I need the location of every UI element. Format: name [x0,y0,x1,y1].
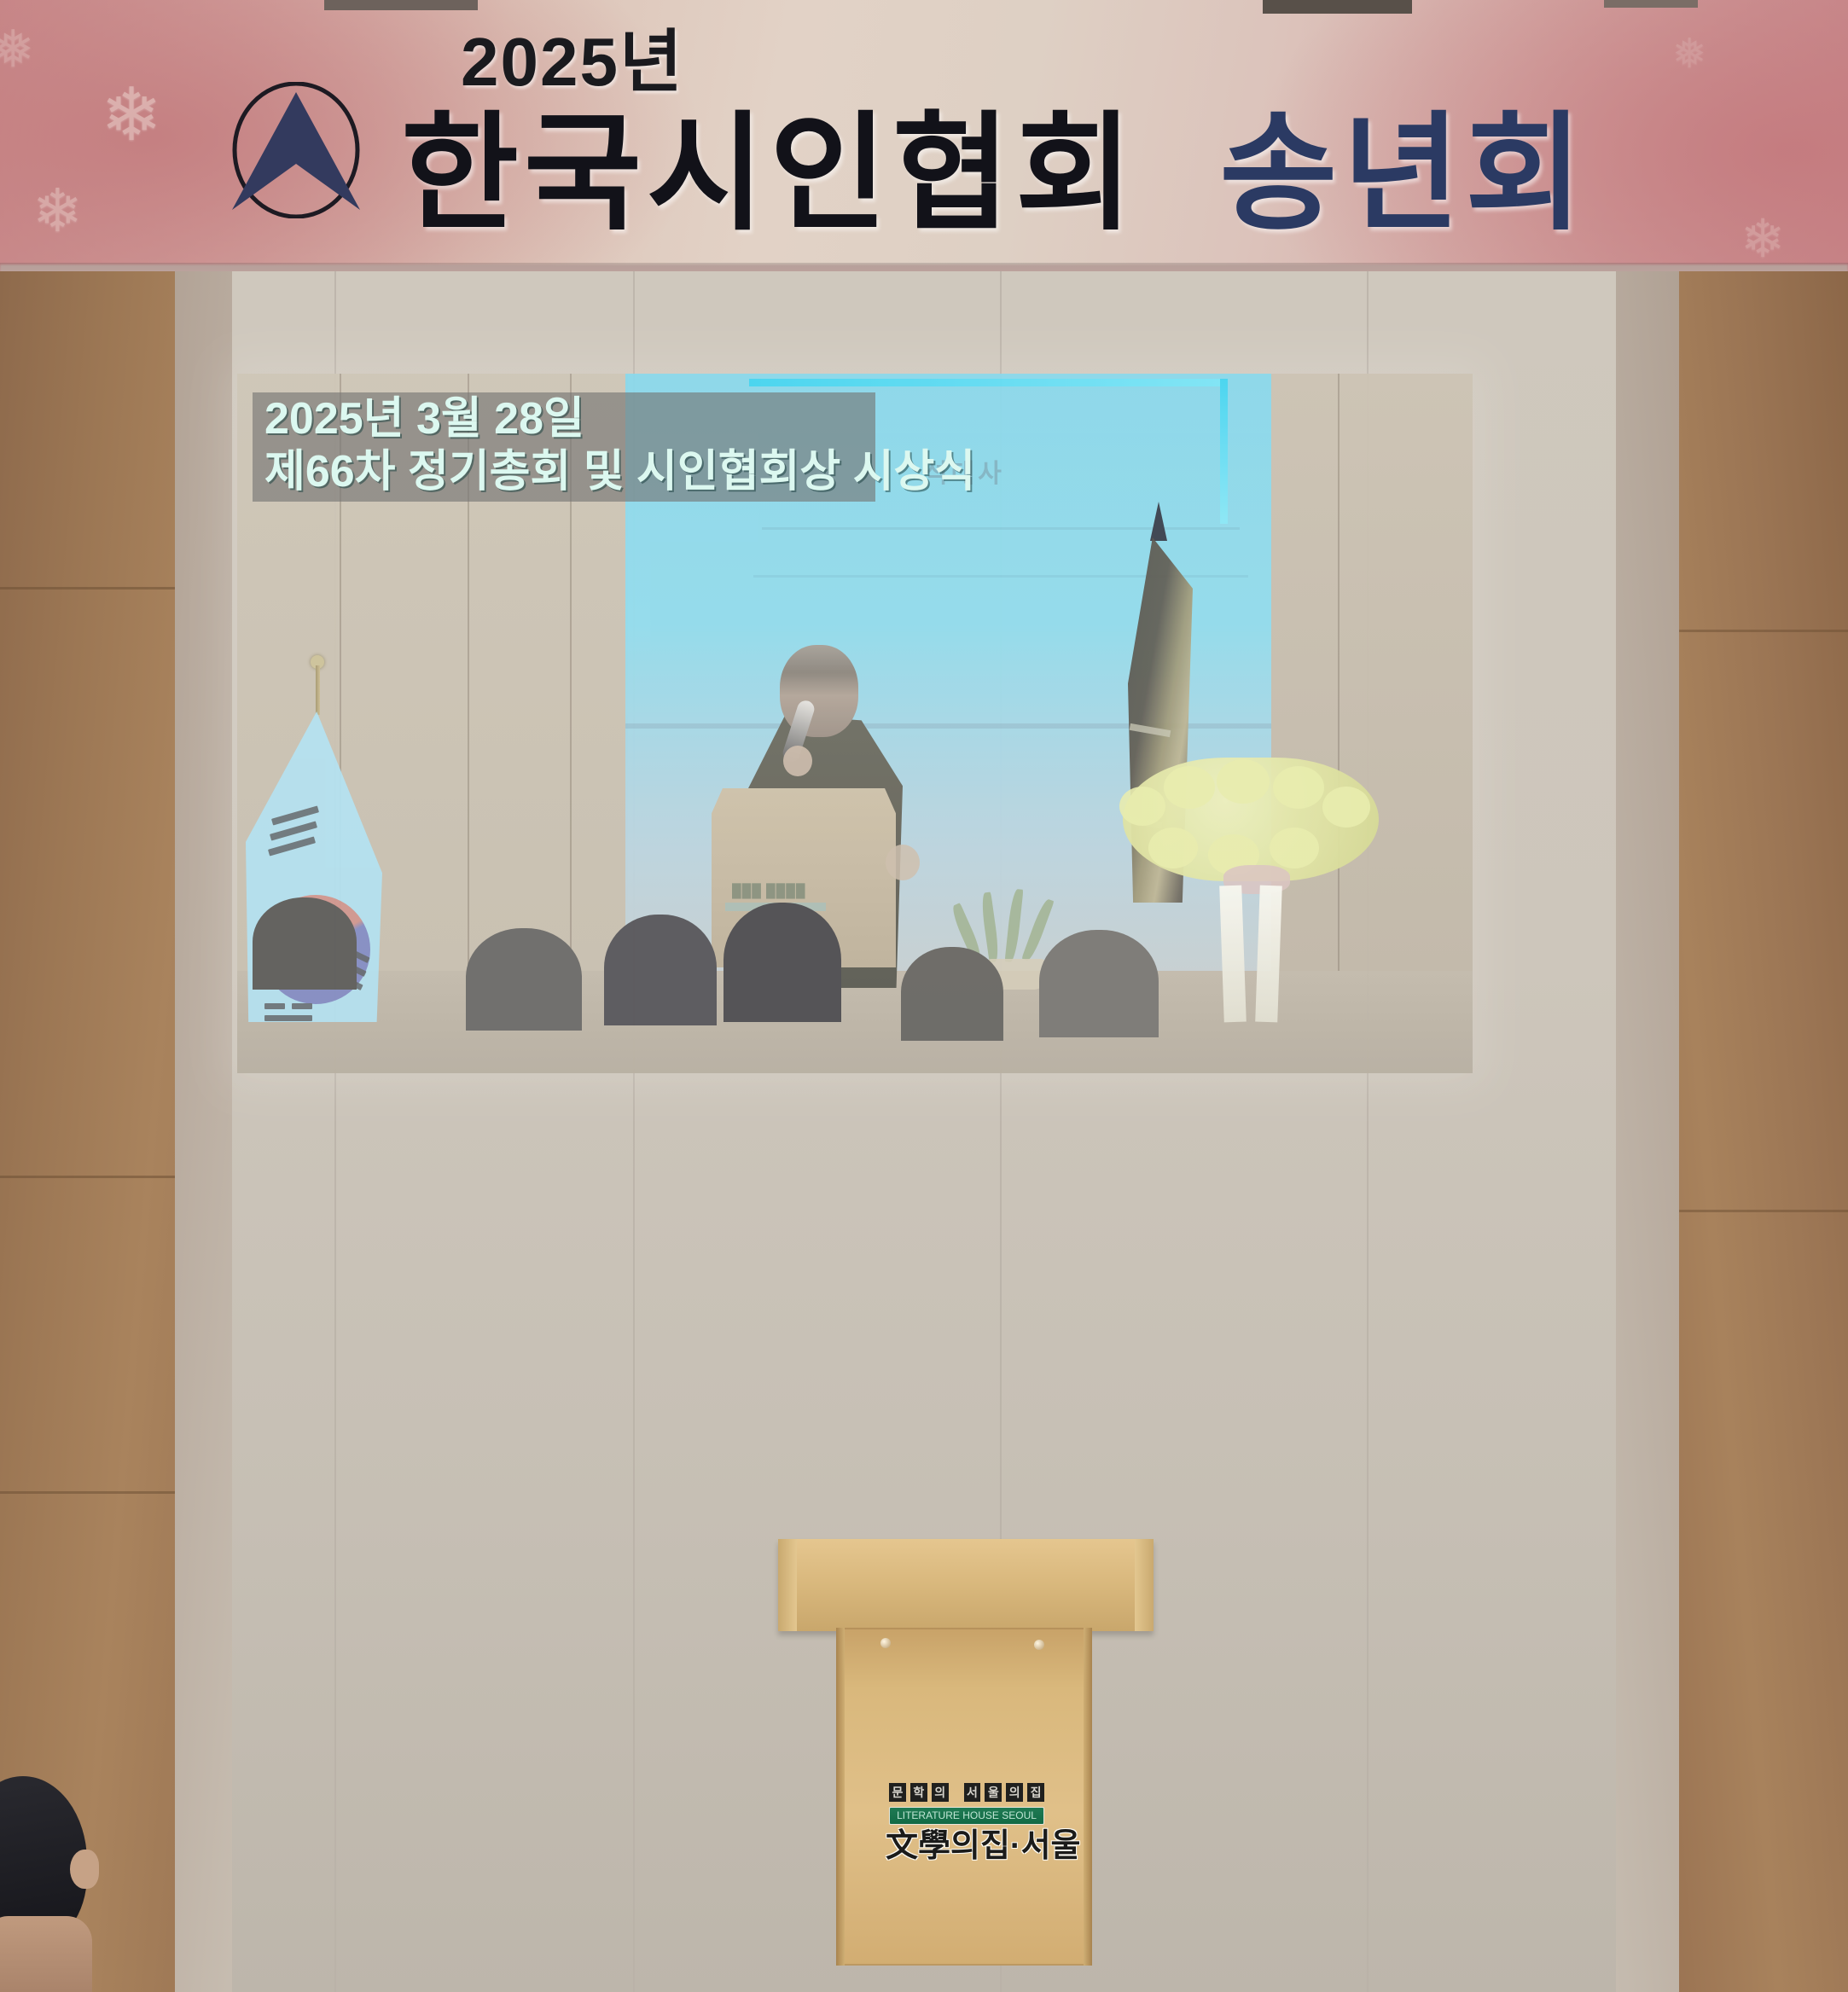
lectern-screw [880,1638,891,1648]
slide-speaker-hand-2 [886,845,920,880]
lectern-top [778,1539,1154,1631]
snowflake-icon: ❅ [1672,34,1706,75]
ceiling-shadow-nick [1604,0,1698,8]
slide-audience-head [466,928,582,1031]
right-wood-wall [1655,271,1848,1992]
banner-title-association: 한국시인협회 [401,102,1138,245]
slide-caption-line-2: 제66차 정기총회 및 시인협회상 시상식 [253,445,875,498]
plaque-small-glyph: 집 [1027,1783,1044,1802]
event-photo-scene: ❄ ❄ ❅ ❄ ❅ 2025년 한국시인협회 송년회 일시 : 2025년 11… [0,0,1848,1992]
plaque-small-glyph: 의 [932,1783,949,1802]
slide-audience-head [604,915,717,1025]
lectern-plaque: 문 학 의 서 울 의 집 LITERATURE HOUSE SEOUL 文學의… [889,1783,1044,1877]
room: 석대사 [0,271,1848,1992]
lectern: 문 학 의 서 울 의 집 LITERATURE HOUSE SEOUL 文學의… [778,1539,1154,1966]
banner-main-title: 한국시인협회 송년회 [401,70,1588,255]
caption-top-rule [749,379,1227,386]
plaque-small-glyph: 학 [910,1783,927,1802]
lectern-body-right-edge [1084,1628,1092,1966]
slide-caption-line-1: 2025년 3월 28일 [253,392,875,445]
foreground-person-ear [70,1850,99,1889]
lectern-screw [1034,1640,1044,1650]
plaque-small-glyph: 의 [1006,1783,1023,1802]
snowflake-icon: ❅ [0,24,34,75]
lectern-top-right-edge [1135,1539,1154,1631]
projected-slide: 석대사 [237,374,1473,1073]
slide-caption-box: 2025년 3월 28일 제66차 정기총회 및 시인협회상 시상식 [253,392,875,502]
snowflake-icon: ❄ [101,78,162,152]
caption-right-rule [1220,379,1228,524]
event-banner: ❄ ❄ ❅ ❄ ❅ 2025년 한국시인협회 송년회 일시 : 2025년 11… [0,0,1848,275]
plaque-small-glyph-row: 문 학 의 서 울 의 집 [889,1783,1044,1802]
flower-ribbon [1219,886,1247,1023]
ceiling-shadow-nick [324,0,478,10]
ceiling-shadow-nick [1263,0,1412,14]
slide-audience-head [253,897,357,990]
slide-audience-head [901,947,1003,1041]
lectern-top-left-edge [778,1539,797,1631]
plaque-small-glyph: 문 [889,1783,906,1802]
slide-audience-head [1039,930,1159,1037]
foreground-person-neck [0,1916,92,1992]
slide-audience-head [724,903,841,1022]
plaque-main-text: 文學의집·서울 [886,1827,1053,1865]
snowflake-icon: ❄ [1740,213,1785,266]
plaque-small-glyph: 울 [985,1783,1002,1802]
slide-speaker-hand [783,746,812,776]
slide-photo-lectern-label: ███ ████ [732,884,806,898]
banner-title-yearend: 송년회 [1219,102,1588,245]
association-logo-icon [213,82,380,218]
snowflake-icon: ❄ [32,181,83,241]
flower-ribbon [1255,886,1282,1023]
plaque-small-glyph: 서 [964,1783,981,1802]
plaque-green-band: LITERATURE HOUSE SEOUL [889,1807,1044,1825]
lectern-body-left-edge [836,1628,845,1966]
